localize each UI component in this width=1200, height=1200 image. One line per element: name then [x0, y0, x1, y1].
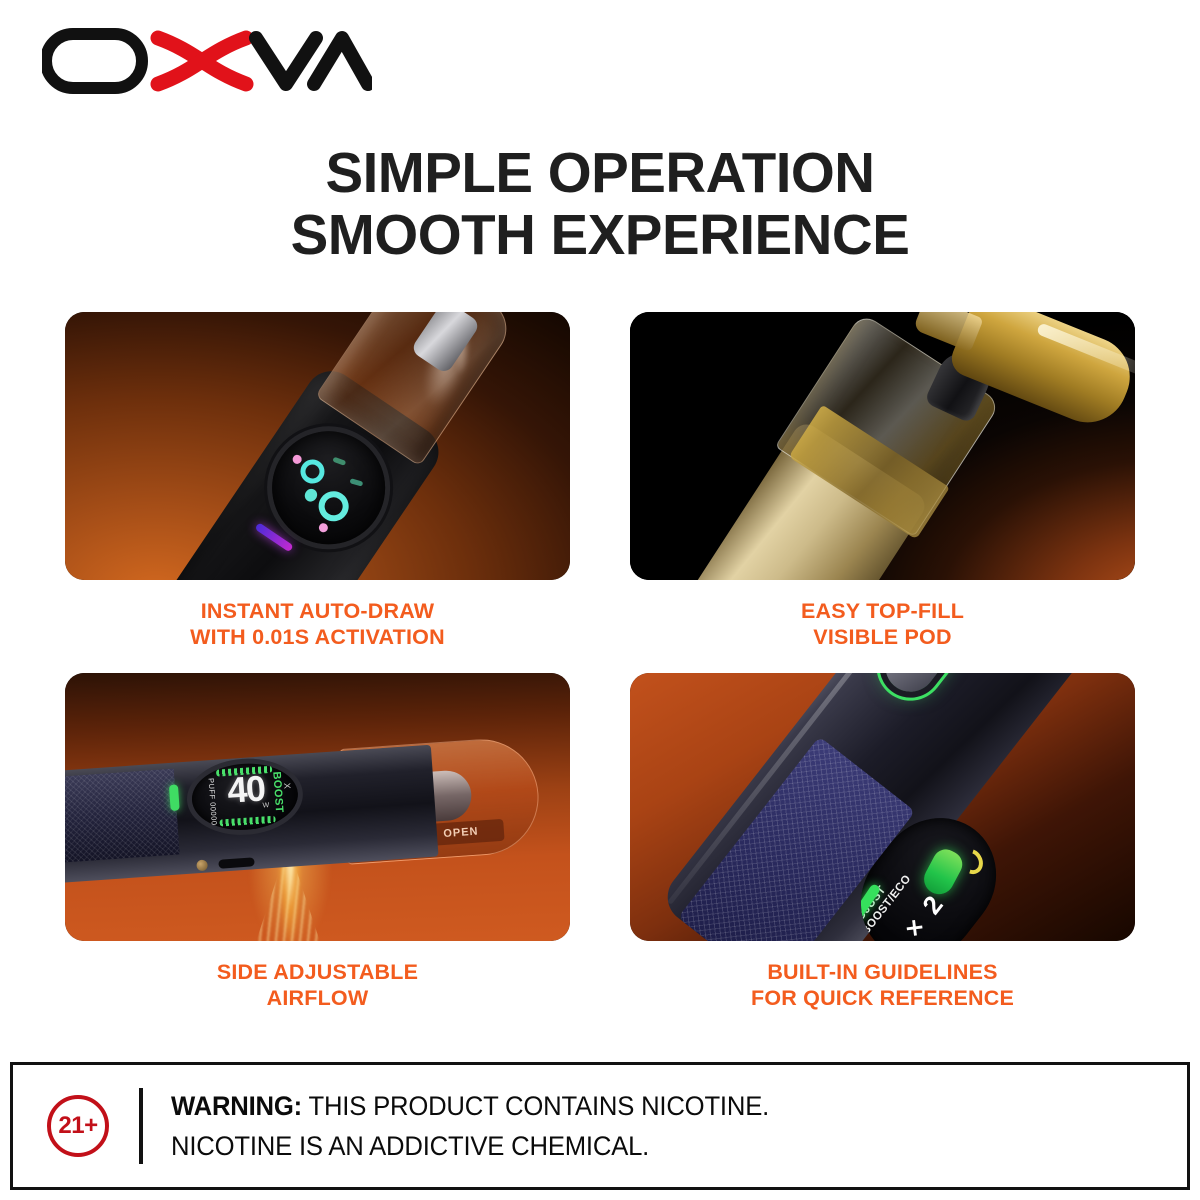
x-glyph-icon: ✕ [875, 673, 960, 702]
feature-caption-guidelines: BUILT-IN GUIDELINES FOR QUICK REFERENCE [630, 959, 1135, 1011]
warning-line-2: NICOTINE IS AN ADDICTIVE CHEMICAL. [171, 1126, 769, 1166]
green-dash-icon [349, 478, 363, 486]
feature-card-auto-draw: INSTANT AUTO-DRAW WITH 0.01S ACTIVATION [65, 312, 570, 651]
feature-grid: INSTANT AUTO-DRAW WITH 0.01S ACTIVATION [65, 312, 1135, 1012]
caption-line-2: VISIBLE POD [630, 624, 1135, 650]
headline-line-1: SIMPLE OPERATION [325, 141, 874, 205]
pod-mouthpiece [410, 312, 481, 375]
battery-indicator [169, 784, 180, 811]
bubble-ring-icon [313, 485, 355, 527]
age-restriction-badge: 21+ [47, 1095, 109, 1157]
headline-line-2: SMOOTH EXPERIENCE [6, 204, 1194, 266]
feature-card-airflow: OPEN PUFF 00000 40 W BOOST X [65, 673, 570, 1012]
textured-side-panel [65, 769, 180, 865]
feature-card-guidelines: ✕ ADJUST BOOST/ECO × 2 BUILT-IN GUIDELIN… [630, 673, 1135, 1012]
wattage-unit: W [262, 802, 269, 809]
caption-line-2: AIRFLOW [65, 985, 570, 1011]
feature-caption-airflow: SIDE ADJUSTABLE AIRFLOW [65, 959, 570, 1011]
caption-line-2: FOR QUICK REFERENCE [630, 985, 1135, 1011]
display-arc-bottom [219, 816, 275, 827]
warning-line-1: WARNING: THIS PRODUCT CONTAINS NICOTINE. [171, 1086, 769, 1126]
page-title: SIMPLE OPERATION SMOOTH EXPERIENCE [6, 142, 1194, 266]
caption-line-1: EASY TOP-FILL [630, 598, 1135, 624]
caption-line-1: SIDE ADJUSTABLE [65, 959, 570, 985]
caption-line-1: INSTANT AUTO-DRAW [65, 598, 570, 624]
airflow-screw [196, 860, 208, 872]
oxva-logo-x-mark [158, 38, 246, 84]
feature-image-airflow: OPEN PUFF 00000 40 W BOOST X [65, 673, 570, 941]
pink-dot-icon [317, 521, 329, 533]
mode-mark-x: X [282, 782, 292, 789]
feature-image-guidelines: ✕ ADJUST BOOST/ECO × 2 [630, 673, 1135, 941]
device-display-screen: PUFF 00000 40 W BOOST X [190, 760, 300, 833]
vertical-divider [139, 1088, 143, 1164]
press-count: × 2 [893, 890, 949, 941]
feature-image-auto-draw [65, 312, 570, 580]
mode-label-boost: BOOST [270, 771, 285, 813]
feature-caption-top-fill: EASY TOP-FILL VISIBLE POD [630, 598, 1135, 650]
feature-card-top-fill: EASY TOP-FILL VISIBLE POD [630, 312, 1135, 651]
oxva-logo [42, 28, 372, 94]
warning-line-1-rest: THIS PRODUCT CONTAINS NICOTINE. [302, 1091, 769, 1121]
feature-caption-auto-draw: INSTANT AUTO-DRAW WITH 0.01S ACTIVATION [65, 598, 570, 650]
feature-image-top-fill [630, 312, 1135, 580]
green-dash-icon [332, 457, 346, 466]
nicotine-warning-banner: 21+ WARNING: THIS PRODUCT CONTAINS NICOT… [10, 1062, 1190, 1190]
airflow-slot [218, 857, 255, 868]
caption-line-2: WITH 0.01S ACTIVATION [65, 624, 570, 650]
display-side-text: PUFF 00000 [207, 778, 219, 826]
wattage-value: 40 [226, 770, 265, 808]
warning-text: WARNING: THIS PRODUCT CONTAINS NICOTINE.… [171, 1086, 769, 1166]
tap-motion-arc-icon [956, 845, 988, 878]
caption-line-1: BUILT-IN GUIDELINES [630, 959, 1135, 985]
warning-bold-prefix: WARNING: [171, 1091, 302, 1121]
teal-dot-icon [302, 486, 319, 503]
pink-dot-icon [291, 453, 303, 465]
fire-button-glowing: ✕ [875, 673, 960, 702]
